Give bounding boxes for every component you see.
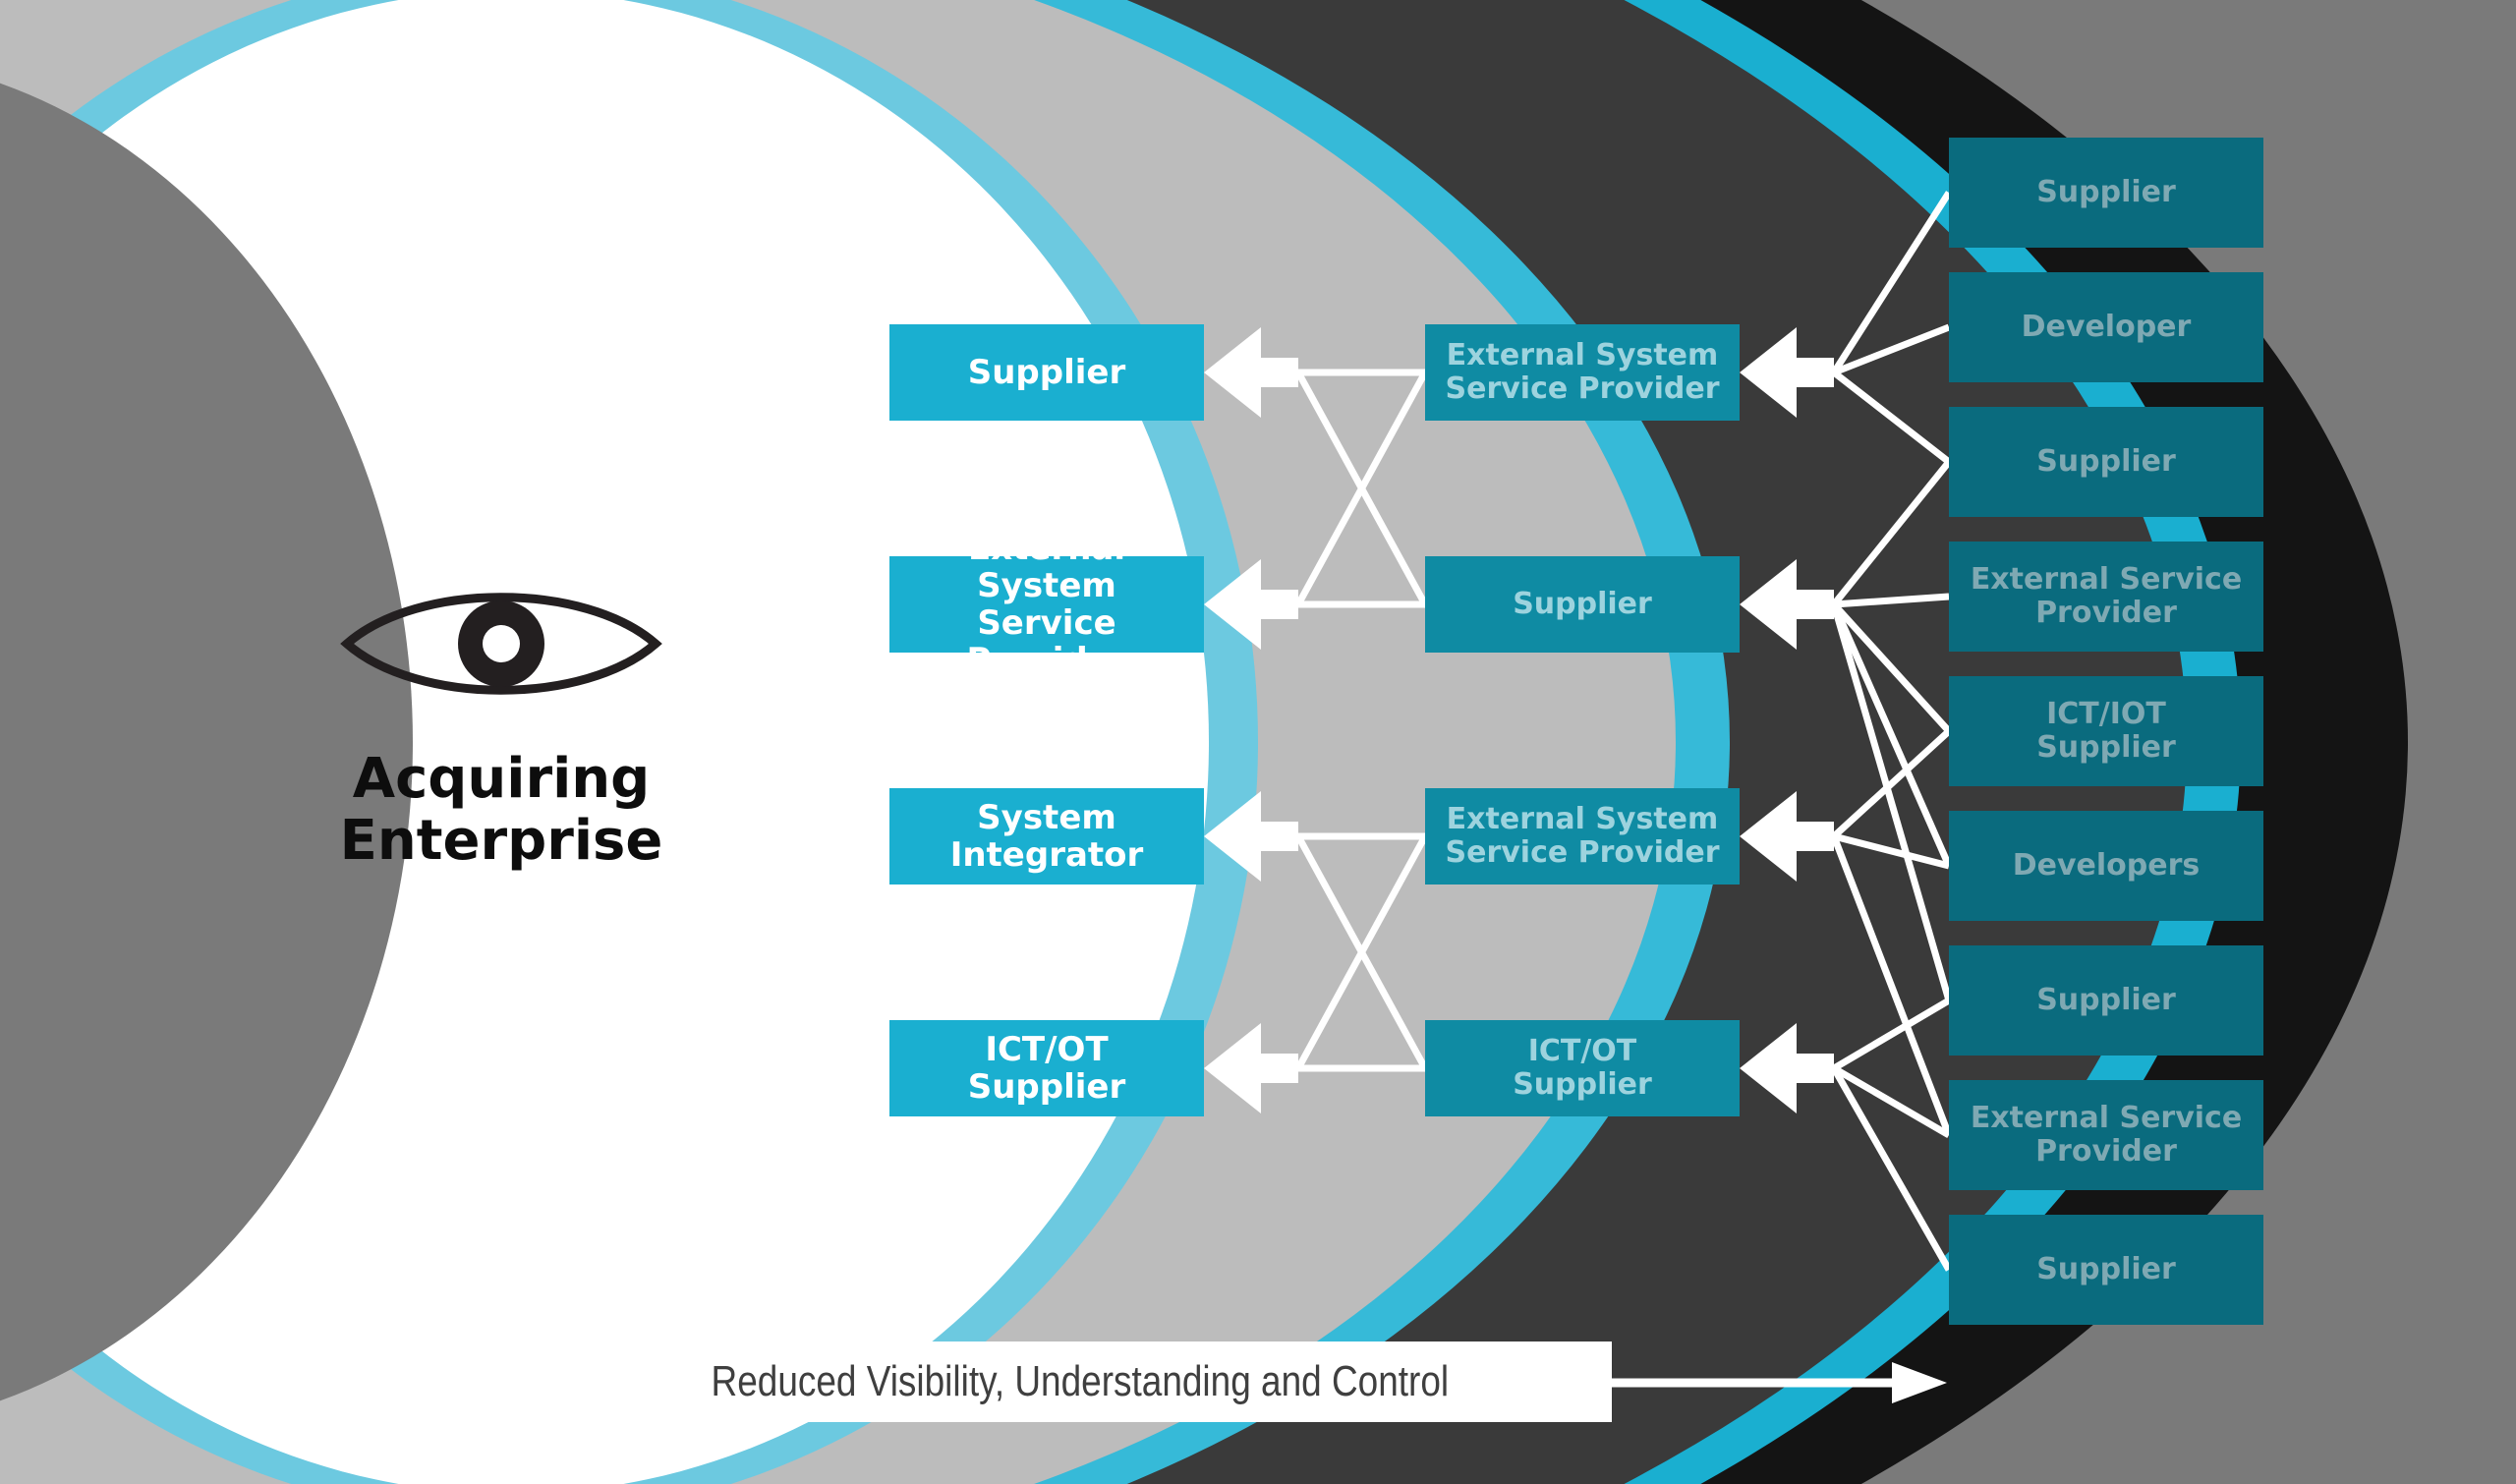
tier-3-node-0: Supplier	[1949, 138, 2263, 248]
node-label: ICT/OTSupplier	[968, 1031, 1126, 1106]
node-label: ICT/IOTSupplier	[2036, 698, 2176, 764]
node-label: Supplier	[2036, 984, 2176, 1017]
connector-line	[1834, 1000, 1949, 1068]
tier-3-node-8: Supplier	[1949, 1215, 2263, 1325]
tier-2-node-1: Supplier	[1425, 556, 1740, 653]
tier-3-node-3: External ServiceProvider	[1949, 542, 2263, 652]
tier-1-node-3: ICT/OTSupplier	[889, 1020, 1204, 1116]
tier-3-node-7: External ServiceProvider	[1949, 1080, 2263, 1190]
enterprise-label-line2: Enterprise	[324, 811, 678, 873]
acquiring-enterprise-group: Acquiring Enterprise	[324, 590, 678, 872]
connector-line	[1834, 372, 1949, 462]
arrowhead-icon	[1204, 327, 1298, 418]
tier-2-node-2: External SystemService Provider	[1425, 788, 1740, 885]
node-label: Supplier	[1513, 588, 1652, 621]
tier-3-node-5: Developers	[1949, 811, 2263, 921]
connector-line	[1834, 836, 1949, 1135]
node-label: Supplier	[968, 354, 1126, 391]
tier-3-node-1: Developer	[1949, 272, 2263, 382]
connector-line	[1834, 462, 1949, 604]
tier-1-node-1: External SystemService Provider	[889, 556, 1204, 653]
arrowhead-icon	[1740, 559, 1834, 650]
tier-2-node-0: External SystemService Provider	[1425, 324, 1740, 421]
enterprise-label-line1: Acquiring	[324, 749, 678, 811]
tier-3-node-4: ICT/IOTSupplier	[1949, 676, 2263, 786]
node-label: SystemIntegrator	[950, 799, 1144, 874]
node-label: External SystemService Provider	[1445, 339, 1719, 405]
node-label: ICT/OTSupplier	[1513, 1035, 1652, 1101]
connector-line	[1834, 597, 1949, 604]
tier-1-node-2: SystemIntegrator	[889, 788, 1204, 885]
arrowhead-icon	[1740, 327, 1834, 418]
node-label: External ServiceProvider	[1971, 563, 2242, 629]
node-label: External ServiceProvider	[1971, 1102, 2242, 1168]
tier-3-node-6: Supplier	[1949, 945, 2263, 1056]
node-label: Developer	[2022, 311, 2192, 344]
connector-line	[1834, 604, 1949, 866]
tier-1-node-0: Supplier	[889, 324, 1204, 421]
node-label: Developers	[2013, 849, 2201, 883]
supply-chain-diagram: Acquiring Enterprise SupplierExternal Sy…	[0, 0, 2516, 1484]
arrowhead-icon	[1740, 1023, 1834, 1113]
node-label: Supplier	[2036, 1253, 2176, 1286]
node-label: Supplier	[2036, 176, 2176, 209]
tier-3-node-2: Supplier	[1949, 407, 2263, 517]
right-arrow-icon	[1597, 1358, 1951, 1407]
arrowhead-icon	[1204, 559, 1298, 650]
tier-2-node-3: ICT/OTSupplier	[1425, 1020, 1740, 1116]
arrowhead-icon	[1204, 791, 1298, 882]
node-label: External SystemService Provider	[1445, 803, 1719, 869]
reduced-visibility-banner: Reduced Visibility, Understanding and Co…	[688, 1341, 1612, 1422]
eye-icon	[339, 590, 663, 698]
reduced-visibility-text: Reduced Visibility, Understanding and Co…	[688, 1357, 1449, 1406]
arrowhead-icon	[1740, 791, 1834, 882]
connector-line	[1834, 836, 1949, 866]
node-label: Supplier	[2036, 445, 2176, 479]
arrowhead-icon	[1204, 1023, 1298, 1113]
acquiring-enterprise-label: Acquiring Enterprise	[324, 749, 678, 872]
connector-line	[1834, 193, 1949, 372]
node-label: External SystemService Provider	[895, 530, 1198, 679]
